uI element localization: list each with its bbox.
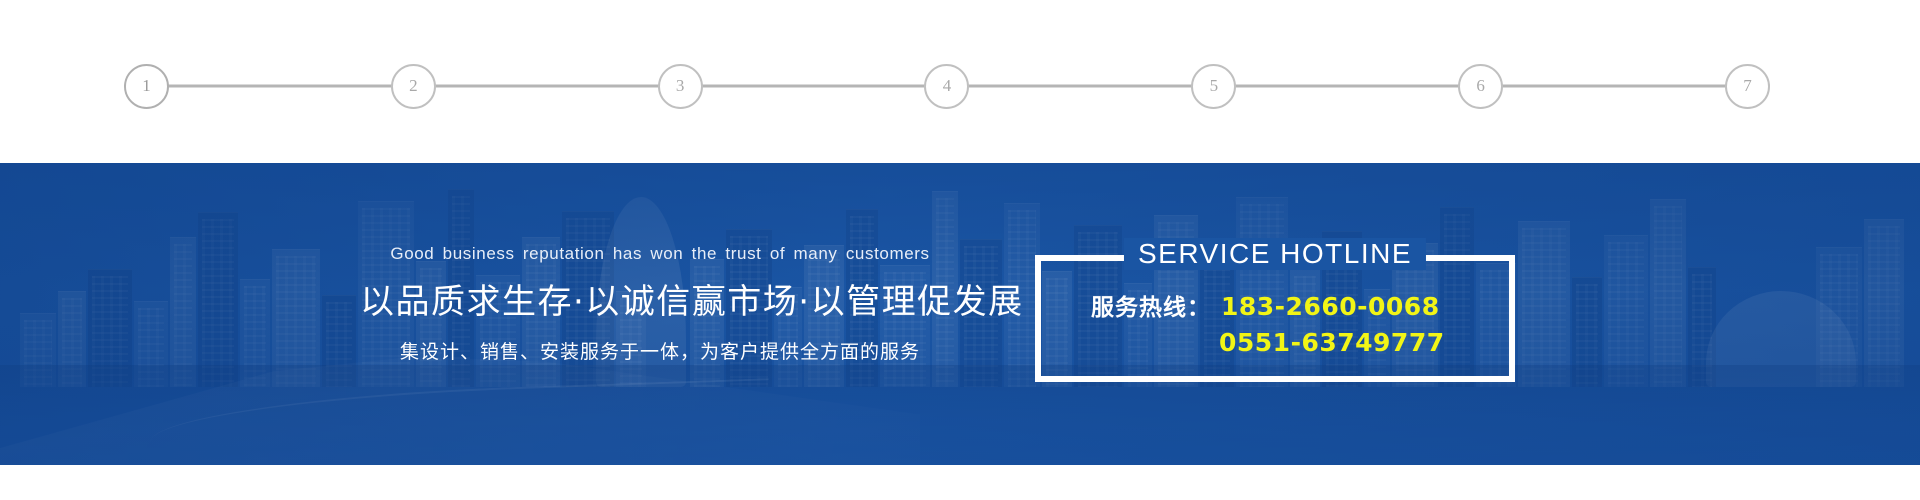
- step-circle-7[interactable]: 7: [1725, 64, 1770, 109]
- step-circle-5[interactable]: 5: [1191, 64, 1236, 109]
- hotline-label: 服务热线：: [1091, 292, 1211, 325]
- hotline-phone-secondary[interactable]: 0551-63749777: [1219, 325, 1445, 361]
- slogan-block: Good business reputation has won the tru…: [360, 243, 960, 364]
- slogan-headline: 以品质求生存·以诚信赢市场·以管理促发展: [360, 281, 960, 324]
- hotline-rows: 服务热线： 183-2660-0068 0551-63749777: [1041, 289, 1509, 362]
- blue-banner: Good business reputation has won the tru…: [0, 163, 1920, 465]
- step-circle-6[interactable]: 6: [1458, 64, 1503, 109]
- footer-banner-page: 1 2 3 4 5 6 7: [0, 0, 1920, 500]
- step-label-3: 3: [676, 76, 685, 96]
- step-label-7: 7: [1743, 76, 1752, 96]
- step-label-4: 4: [943, 76, 952, 96]
- step-label-6: 6: [1476, 76, 1485, 96]
- slogan-subtext: 集设计、销售、安装服务于一体，为客户提供全方面的服务: [360, 340, 960, 365]
- step-label-2: 2: [409, 76, 418, 96]
- hotline-row-secondary: 0551-63749777: [1041, 325, 1509, 361]
- hotline-row-primary: 服务热线： 183-2660-0068: [1041, 289, 1509, 325]
- bottom-white-strip: [0, 465, 1920, 500]
- step-circle-1[interactable]: 1: [124, 64, 169, 109]
- hotline-box: SERVICE HOTLINE 服务热线： 183-2660-0068 0551…: [1035, 255, 1515, 382]
- slogan-english: Good business reputation has won the tru…: [360, 243, 960, 265]
- step-label-5: 5: [1210, 76, 1219, 96]
- page-steps-bar: 1 2 3 4 5 6 7: [0, 0, 1920, 163]
- step-circle-3[interactable]: 3: [658, 64, 703, 109]
- hotline-title: SERVICE HOTLINE: [1124, 238, 1426, 270]
- step-circle-4[interactable]: 4: [924, 64, 969, 109]
- step-label-1: 1: [142, 76, 151, 96]
- hotline-phone-primary[interactable]: 183-2660-0068: [1221, 289, 1440, 325]
- step-circle-2[interactable]: 2: [391, 64, 436, 109]
- city-skyline-background: [0, 172, 1920, 387]
